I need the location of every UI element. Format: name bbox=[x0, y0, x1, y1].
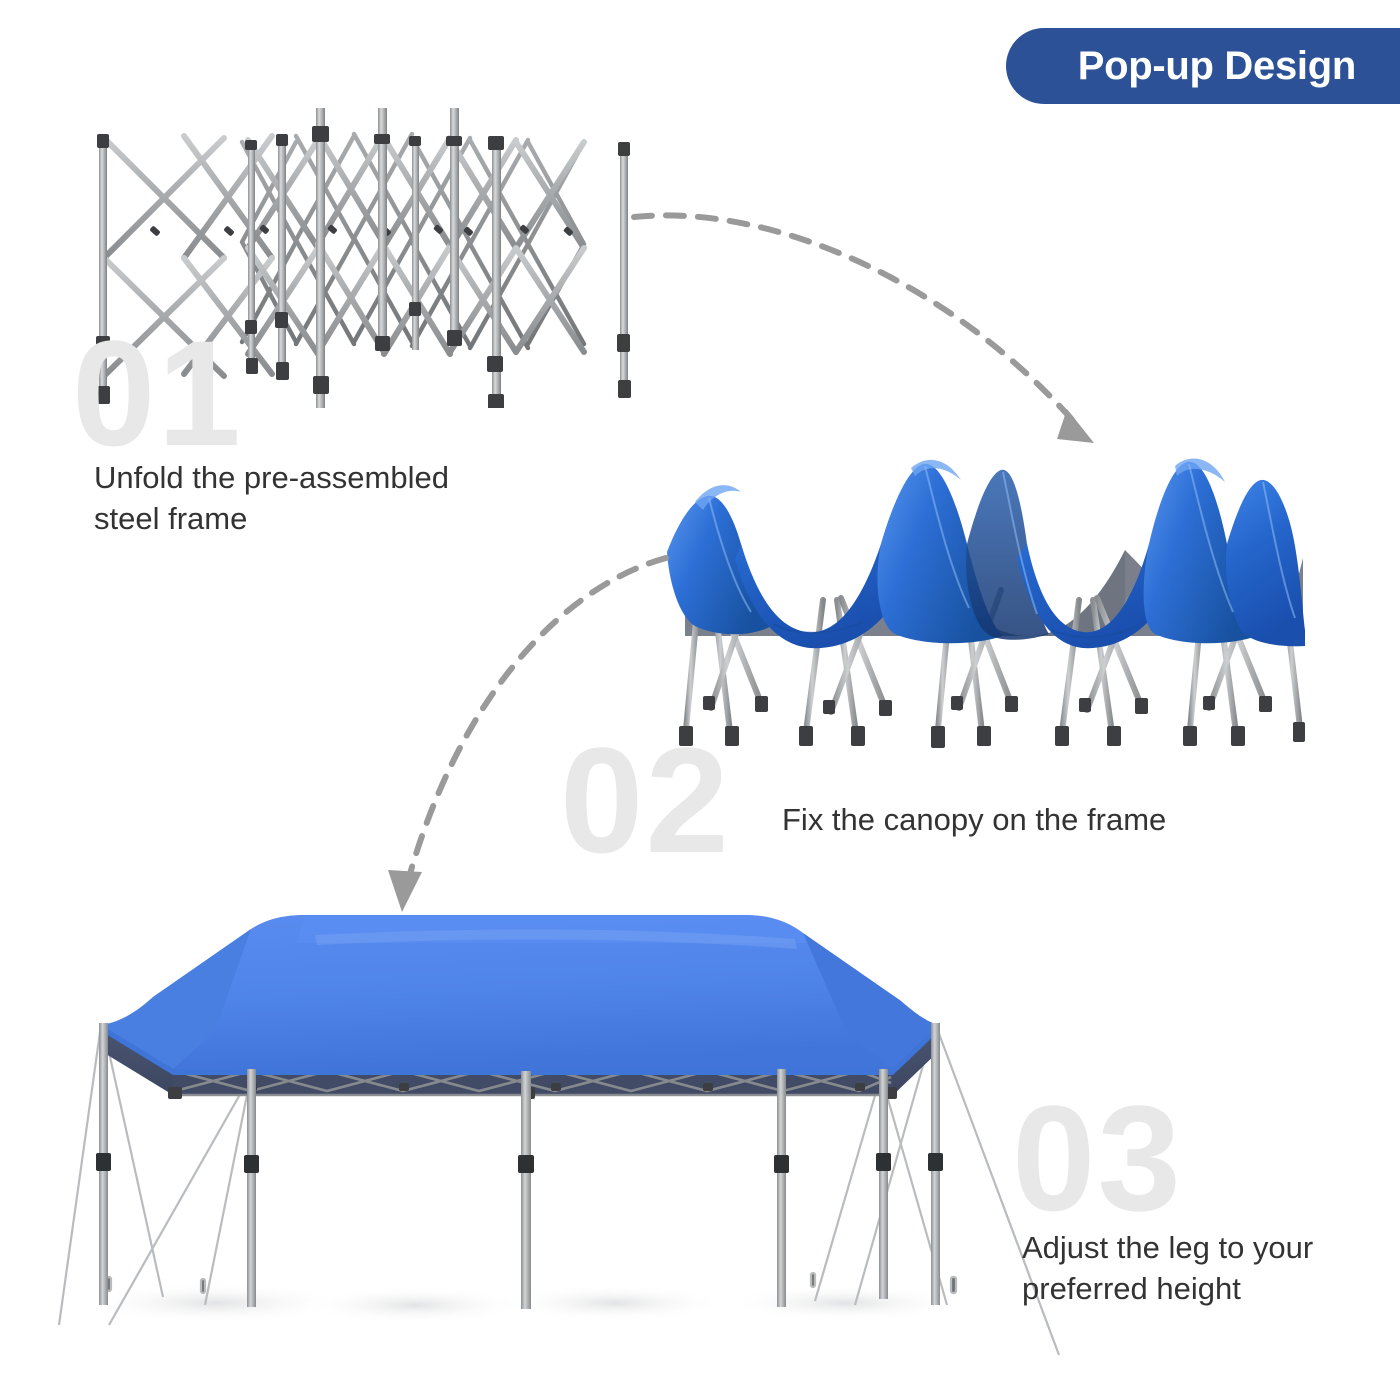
arrow-step2-to-step3 bbox=[380, 540, 680, 930]
step-number-01: 01 bbox=[72, 318, 243, 468]
arrow-step1-to-step2 bbox=[620, 185, 1120, 465]
step-caption-01: Unfold the pre-assembled steel frame bbox=[94, 458, 524, 540]
canopy-draped-illustration bbox=[655, 440, 1305, 770]
arrow-curve-line bbox=[406, 558, 666, 888]
leg-height-clip bbox=[876, 1153, 891, 1171]
leg-height-clip bbox=[774, 1155, 789, 1173]
step-caption-02: Fix the canopy on the frame bbox=[782, 800, 1242, 841]
leg-height-clip bbox=[244, 1155, 259, 1173]
step-number-03: 03 bbox=[1012, 1083, 1183, 1233]
arrow-head bbox=[1057, 409, 1094, 443]
header-badge: Pop-up Design bbox=[1006, 28, 1400, 104]
canopy-blue-fabric bbox=[667, 459, 1305, 649]
leg-height-clip bbox=[518, 1155, 534, 1173]
canopy-frame-feet bbox=[679, 696, 1305, 748]
badge-label: Pop-up Design bbox=[1078, 46, 1356, 86]
assembled-canopy-illustration bbox=[55, 905, 1065, 1375]
infographic-canvas: Pop-up Design bbox=[0, 0, 1400, 1400]
arrow-curve-line bbox=[634, 215, 1075, 423]
step-caption-03: Adjust the leg to your preferred height bbox=[1022, 1228, 1382, 1310]
canopy-top bbox=[101, 915, 939, 1075]
leg-height-clip bbox=[96, 1153, 111, 1171]
leg-height-clip bbox=[928, 1153, 943, 1171]
